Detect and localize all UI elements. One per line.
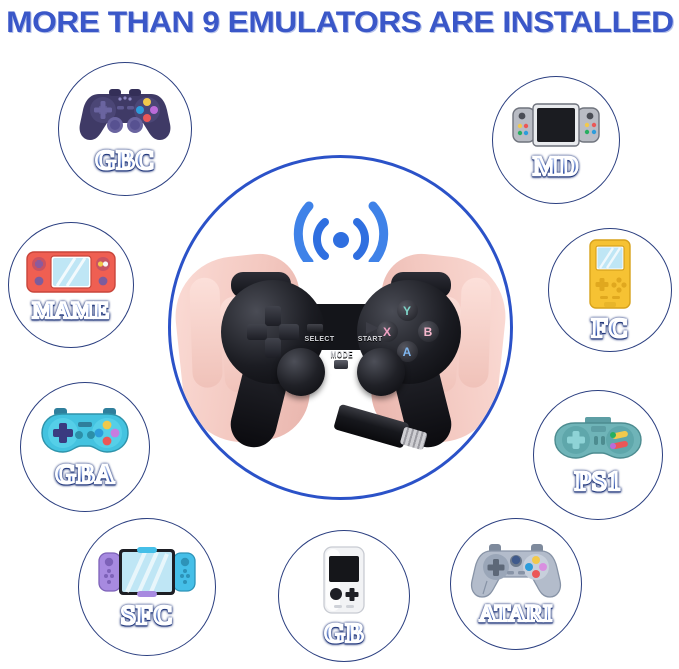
- emulator-label-fc: FC: [592, 315, 629, 342]
- page-title-bar: MORE THAN 9 EMULATORS ARE INSTALLED: [0, 0, 679, 46]
- dual-analog-gamepad-icon: [79, 84, 171, 144]
- emulator-label-sfc: SFC: [121, 602, 174, 629]
- dpad-up[interactable]: [265, 306, 281, 326]
- left-index-finger: [189, 277, 223, 388]
- select-key[interactable]: [307, 324, 323, 332]
- wifi-waves-icon: [281, 184, 401, 262]
- emulator-label-atari: ATARI: [479, 602, 552, 625]
- emulator-label-gba: GBA: [55, 461, 115, 488]
- start-key[interactable]: [366, 322, 379, 334]
- emulator-badge-sfc[interactable]: SFC: [78, 518, 216, 656]
- dpad-left[interactable]: [247, 324, 267, 340]
- switch-handheld-console-icon: [509, 100, 603, 150]
- button-b[interactable]: B: [418, 321, 439, 342]
- emulator-badge-gba[interactable]: GBA: [20, 382, 150, 512]
- emulator-badge-atari[interactable]: ATARI: [450, 518, 582, 650]
- yellow-gameboy-icon: [583, 238, 637, 312]
- emulator-badge-gb[interactable]: GB: [278, 530, 410, 662]
- mode-label: MODE: [331, 351, 354, 360]
- cyan-snes-controller-icon: [38, 406, 132, 458]
- gray-gamepad-icon: [469, 543, 563, 599]
- red-handheld-console-icon: [25, 248, 117, 296]
- emulator-label-gbc: GBC: [95, 147, 155, 174]
- emulator-label-gb: GB: [324, 620, 364, 647]
- white-handheld-console-icon: [316, 545, 372, 617]
- select-label: SELECT: [305, 336, 335, 343]
- emulator-badge-fc[interactable]: FC: [548, 228, 672, 352]
- emulator-badge-md[interactable]: MD: [492, 76, 620, 204]
- nintendo-switch-icon: [97, 545, 197, 599]
- page-title: MORE THAN 9 EMULATORS ARE INSTALLED: [6, 6, 674, 40]
- dongle-usb-connector: [400, 426, 428, 450]
- right-index-finger: [458, 277, 492, 388]
- dpad-right[interactable]: [279, 324, 299, 340]
- emulator-label-md: MD: [533, 153, 579, 180]
- emulator-badge-mame[interactable]: MAME: [8, 222, 134, 348]
- dpad-down[interactable]: [265, 338, 281, 358]
- left-analog-stick[interactable]: [277, 348, 325, 396]
- teal-snes-controller-icon: [551, 415, 645, 465]
- start-label: START: [358, 336, 383, 343]
- emulator-label-mame: MAME: [32, 299, 109, 322]
- emulator-label-ps1: PS1: [575, 468, 622, 495]
- emulator-badge-ps1[interactable]: PS1: [533, 390, 663, 520]
- right-analog-stick[interactable]: [357, 348, 405, 396]
- hero-product-circle: Y X B A SELECT MODE START: [168, 155, 513, 500]
- mode-key[interactable]: [334, 360, 348, 369]
- button-y[interactable]: Y: [397, 300, 418, 321]
